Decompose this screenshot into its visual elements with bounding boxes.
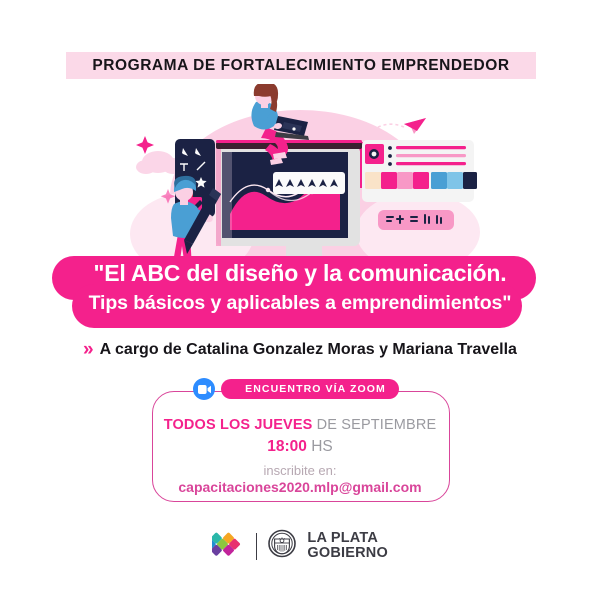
zoom-badge-label: ENCUENTRO VÍA ZOOM xyxy=(221,379,399,399)
title-line-1: "El ABC del diseño y la comunicación. xyxy=(0,260,600,287)
event-day-bold: TODOS LOS JUEVES xyxy=(164,417,313,433)
flyer-canvas: PROGRAMA DE FORTALECIMIENTO EMPRENDEDOR xyxy=(0,0,600,600)
title-block: "El ABC del diseño y la comunicación. Ti… xyxy=(0,256,600,332)
video-camera-icon xyxy=(193,378,215,400)
speakers-text: A cargo de Catalina Gonzalez Moras y Mar… xyxy=(100,341,517,359)
header-banner: PROGRAMA DE FORTALECIMIENTO EMPRENDEDOR xyxy=(66,52,536,79)
double-chevron-right-icon: » xyxy=(83,340,91,359)
logo-divider xyxy=(256,533,257,560)
title-line-2: Tips básicos y aplicables a emprendimien… xyxy=(0,292,600,315)
header-banner-text: PROGRAMA DE FORTALECIMIENTO EMPRENDEDOR xyxy=(92,57,509,75)
signup-email[interactable]: capacitaciones2020.mlp@gmail.com xyxy=(0,479,600,495)
signup-label: inscribite en: xyxy=(0,463,600,478)
la-plata-shield-icon xyxy=(268,529,296,563)
event-day-line: TODOS LOS JUEVES DE SEPTIEMBRE xyxy=(0,417,600,433)
event-time-bold: 18:00 xyxy=(267,438,307,455)
zoom-badge: ENCUENTRO VÍA ZOOM xyxy=(0,378,600,400)
speakers-line: » A cargo de Catalina Gonzalez Moras y M… xyxy=(0,340,600,359)
gobierno-wordmark: LA PLATA GOBIERNO xyxy=(307,531,388,561)
wordmark-line-2: GOBIERNO xyxy=(307,546,388,561)
event-time-rest: HS xyxy=(307,438,333,455)
design-workspace-illustration xyxy=(118,84,482,270)
rainbow-heart-icon xyxy=(212,529,245,563)
event-time-line: 18:00 HS xyxy=(0,438,600,456)
event-day-rest: DE SEPTIEMBRE xyxy=(313,417,437,433)
wordmark-line-1: LA PLATA xyxy=(307,531,388,546)
footer-logos: LA PLATA GOBIERNO xyxy=(0,528,600,564)
